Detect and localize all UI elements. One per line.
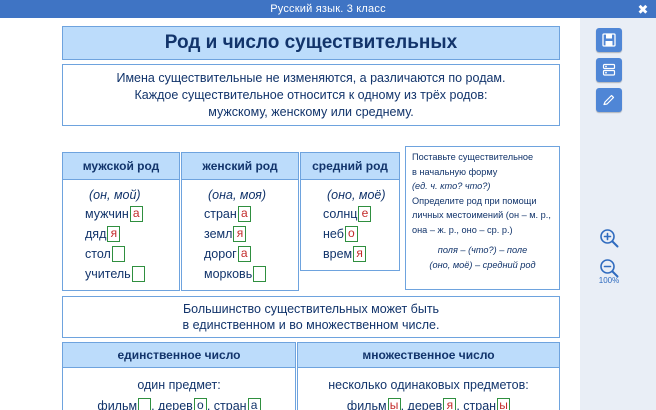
word-stem: дяд xyxy=(85,227,106,241)
word-item: страна xyxy=(182,204,298,224)
word-item: дядя xyxy=(63,224,179,244)
word-stem: мужчин xyxy=(85,207,129,221)
gender-word-list: (оно, моё) солнце небо время xyxy=(300,180,400,271)
word-item: мужчина xyxy=(63,204,179,224)
intro-block: Имена существительные не изменяются, а р… xyxy=(62,64,560,126)
note-line: она – ж. р., оно – ср. р.) xyxy=(412,225,553,237)
slide-heading-text: Род и число существительных xyxy=(165,32,457,54)
gender-word-list: (она, моя) страна земля дорога морковь xyxy=(181,180,299,291)
number-subtitle: несколько одинаковых предметов: xyxy=(328,378,528,392)
gender-word-list: (он, мой) мужчина дядя стол учитель xyxy=(62,180,180,291)
pencil-icon[interactable] xyxy=(596,88,622,112)
slide-viewer-window: Русский язык. 3 класс ✖ Род и число суще… xyxy=(0,0,656,410)
number-statement: Большинство существительных может быть в… xyxy=(62,296,560,338)
separator: , xyxy=(401,399,408,410)
word-stem: стол xyxy=(85,247,111,261)
number-word-row: фильм, дерево, страна xyxy=(97,398,260,410)
word-ending: а xyxy=(238,206,251,222)
word-ending: а xyxy=(130,206,143,222)
number-word-row: фильмы, деревя, страны xyxy=(347,398,510,410)
gender-caption: средний род xyxy=(300,152,400,180)
word-stem: стран xyxy=(463,399,496,410)
gender-pronoun: (оно, моё) xyxy=(301,186,399,204)
gender-caption: мужской род xyxy=(62,152,180,180)
instruction-note: Поставьте существительное в начальную фо… xyxy=(405,146,560,290)
note-line: (ед. ч. кто? что?) xyxy=(412,181,553,193)
number-body: один предмет: фильм, дерево, страна xyxy=(62,368,296,410)
gender-column-feminine: женский род (она, моя) страна земля доро… xyxy=(181,152,299,291)
word-stem: дорог xyxy=(204,247,237,261)
note-example: поля – (что?) – поле xyxy=(412,245,553,257)
number-caption: единственное число xyxy=(62,342,296,368)
word-item: солнце xyxy=(301,204,399,224)
separator: , xyxy=(151,399,158,410)
word-ending: о xyxy=(345,226,358,242)
number-subtitle: один предмет: xyxy=(137,378,220,392)
word-stem: морковь xyxy=(204,267,252,281)
word-stem: солнц xyxy=(323,207,357,221)
number-statement-line-2: в единственном и во множественном числе. xyxy=(183,318,440,332)
separator: , xyxy=(207,399,214,410)
intro-line-3: мужскому, женскому или среднему. xyxy=(208,105,413,119)
word-item: небо xyxy=(301,224,399,244)
word-stem: дерев xyxy=(158,399,193,410)
word-item: земля xyxy=(182,224,298,244)
word-stem: стран xyxy=(214,399,247,410)
save-icon[interactable] xyxy=(596,28,622,52)
word-stem: фильм xyxy=(347,399,387,410)
word-ending: я xyxy=(353,246,366,262)
window-title: Русский язык. 3 класс xyxy=(270,3,386,15)
word-ending: а xyxy=(248,398,261,410)
note-example: (оно, моё) – средний род xyxy=(412,260,553,272)
zoom-in-icon[interactable] xyxy=(592,223,626,253)
note-line: в начальную форму xyxy=(412,167,553,179)
word-item: дорога xyxy=(182,244,298,264)
note-line: личных местоимений (он – м. р., xyxy=(412,210,553,222)
gender-column-masculine: мужской род (он, мой) мужчина дядя стол … xyxy=(62,152,180,291)
intro-line-1: Имена существительные не изменяются, а р… xyxy=(116,71,505,85)
word-stem: неб xyxy=(323,227,344,241)
gender-caption: женский род xyxy=(181,152,299,180)
number-body: несколько одинаковых предметов: фильмы, … xyxy=(297,368,560,410)
word-ending: а xyxy=(238,246,251,262)
gender-pronoun: (он, мой) xyxy=(63,186,179,204)
word-stem: стран xyxy=(204,207,237,221)
word-item: морковь xyxy=(182,264,298,284)
right-toolbar: 100% xyxy=(580,18,656,410)
word-ending: я xyxy=(107,226,120,242)
word-ending xyxy=(253,266,266,282)
gender-pronoun: (она, моя) xyxy=(182,186,298,204)
word-ending xyxy=(132,266,145,282)
layers-icon[interactable] xyxy=(596,58,622,82)
note-line: Определите род при помощи xyxy=(412,196,553,208)
note-line: Поставьте существительное xyxy=(412,152,553,164)
word-ending xyxy=(112,246,125,262)
word-ending: я xyxy=(233,226,246,242)
slide-canvas: Род и число существительных Имена сущест… xyxy=(0,18,581,410)
word-stem: учитель xyxy=(85,267,131,281)
number-column-plural: множественное число несколько одинаковых… xyxy=(297,342,560,410)
word-ending: е xyxy=(358,206,371,222)
slide-heading: Род и число существительных xyxy=(62,26,560,60)
word-ending: о xyxy=(194,398,207,410)
word-stem: дерев xyxy=(408,399,443,410)
word-item: стол xyxy=(63,244,179,264)
intro-line-2: Каждое существительное относится к одном… xyxy=(135,88,488,102)
number-statement-line-1: Большинство существительных может быть xyxy=(183,302,439,316)
word-item: время xyxy=(301,244,399,264)
separator: , xyxy=(456,399,463,410)
word-stem: врем xyxy=(323,247,352,261)
word-ending: я xyxy=(443,398,456,410)
word-ending: ы xyxy=(388,398,401,410)
word-stem: фильм xyxy=(97,399,137,410)
zoom-level-label[interactable]: 100% xyxy=(588,276,630,285)
number-caption: множественное число xyxy=(297,342,560,368)
number-column-singular: единственное число один предмет: фильм, … xyxy=(62,342,296,410)
title-bar: Русский язык. 3 класс ✖ xyxy=(0,0,656,18)
word-ending xyxy=(138,398,151,410)
word-item: учитель xyxy=(63,264,179,284)
word-stem: земл xyxy=(204,227,232,241)
gender-column-neuter: средний род (оно, моё) солнце небо время xyxy=(300,152,400,271)
word-ending: ы xyxy=(497,398,510,410)
close-icon[interactable]: ✖ xyxy=(630,0,656,18)
